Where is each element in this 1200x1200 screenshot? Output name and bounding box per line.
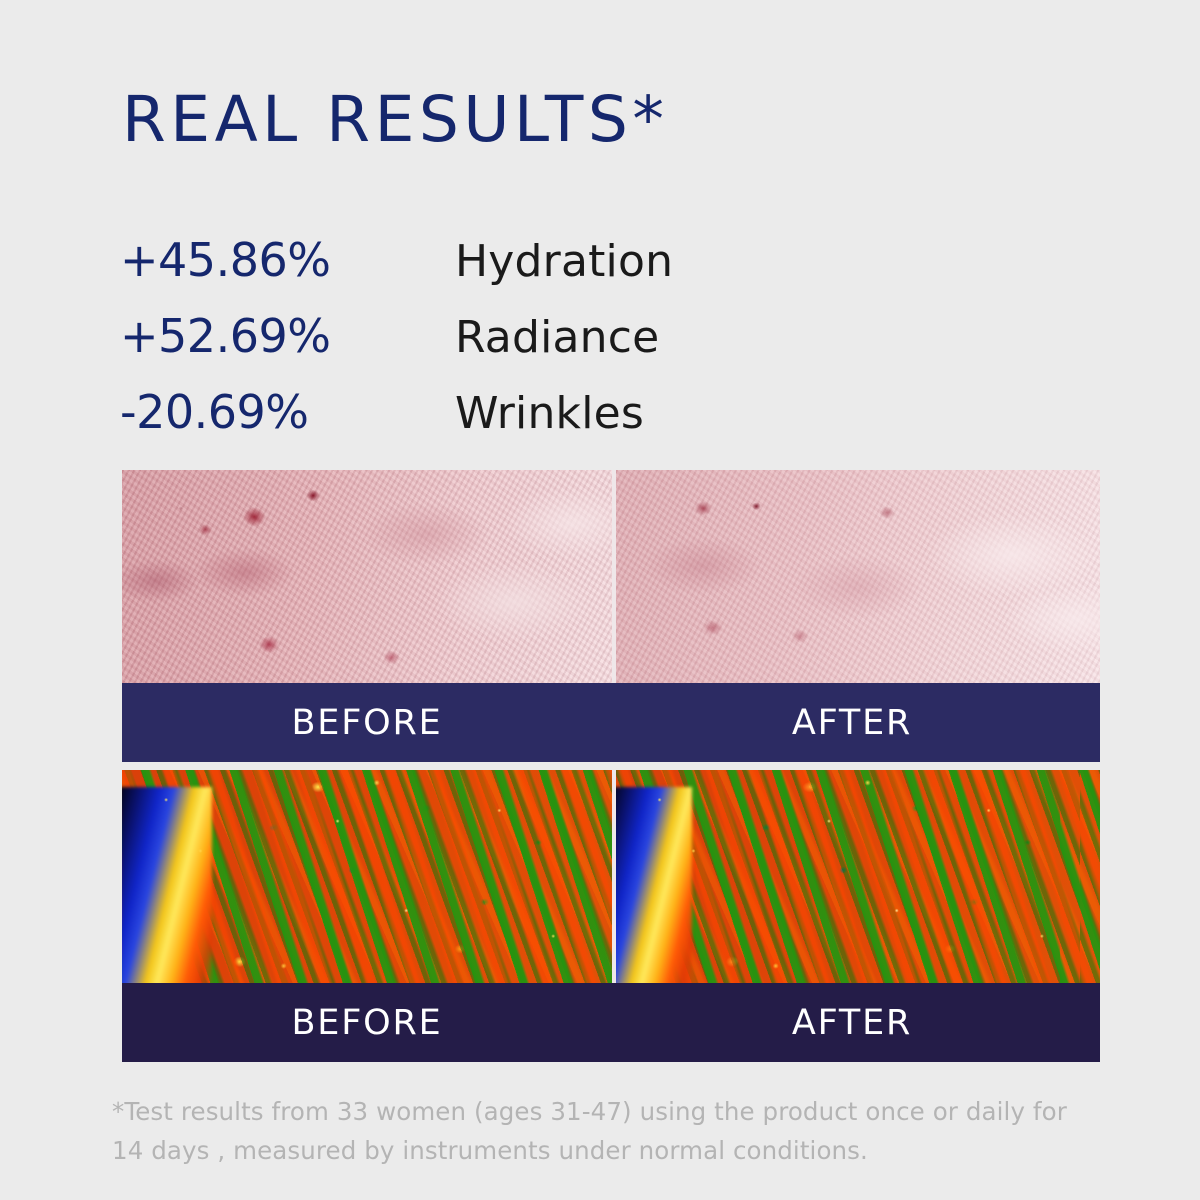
thermal-map-label-bar: BEFORE AFTER — [122, 983, 1100, 1062]
real-results-infographic: REAL RESULTS* +45.86% Hydration +52.69% … — [0, 0, 1200, 1200]
thermal-hotspot-flecks — [122, 770, 612, 983]
before-after-comparison-grid: BEFORE AFTER — [122, 470, 1100, 1062]
skin-closeup-before-image — [122, 470, 612, 683]
skin-texture-before — [122, 470, 612, 683]
stat-row-radiance: +52.69% Radiance — [120, 308, 820, 384]
page-title: REAL RESULTS* — [122, 84, 668, 156]
footnote-disclaimer: *Test results from 33 women (ages 31-47)… — [112, 1092, 1102, 1170]
results-stats-list: +45.86% Hydration +52.69% Radiance -20.6… — [120, 232, 820, 460]
skin-closeup-after-image — [616, 470, 1100, 683]
thermal-heatmap-before — [122, 770, 612, 983]
comparison-block-skin-closeup: BEFORE AFTER — [122, 470, 1100, 762]
comparison-block-thermal-map: BEFORE AFTER — [122, 770, 1100, 1062]
stat-label-radiance: Radiance — [455, 310, 659, 366]
skin-closeup-after-label: AFTER — [608, 683, 1096, 762]
stat-value-wrinkles: -20.69% — [120, 384, 455, 440]
stat-label-hydration: Hydration — [455, 234, 673, 290]
stat-row-wrinkles: -20.69% Wrinkles — [120, 384, 820, 460]
skin-closeup-label-bar: BEFORE AFTER — [122, 683, 1100, 762]
stat-row-hydration: +45.86% Hydration — [120, 232, 820, 308]
stat-value-hydration: +45.86% — [120, 232, 455, 288]
skin-closeup-panes — [122, 470, 1100, 683]
thermal-hotspot-flecks — [616, 770, 1100, 983]
thermal-map-before-image — [122, 770, 612, 983]
thermal-map-before-label: BEFORE — [122, 983, 612, 1062]
thermal-map-panes — [122, 770, 1100, 983]
skin-closeup-before-label: BEFORE — [122, 683, 612, 762]
stat-label-wrinkles: Wrinkles — [455, 386, 644, 442]
skin-texture-after — [616, 470, 1100, 683]
thermal-map-after-label: AFTER — [608, 983, 1096, 1062]
thermal-map-after-image — [616, 770, 1100, 983]
thermal-heatmap-after — [616, 770, 1100, 983]
stat-value-radiance: +52.69% — [120, 308, 455, 364]
